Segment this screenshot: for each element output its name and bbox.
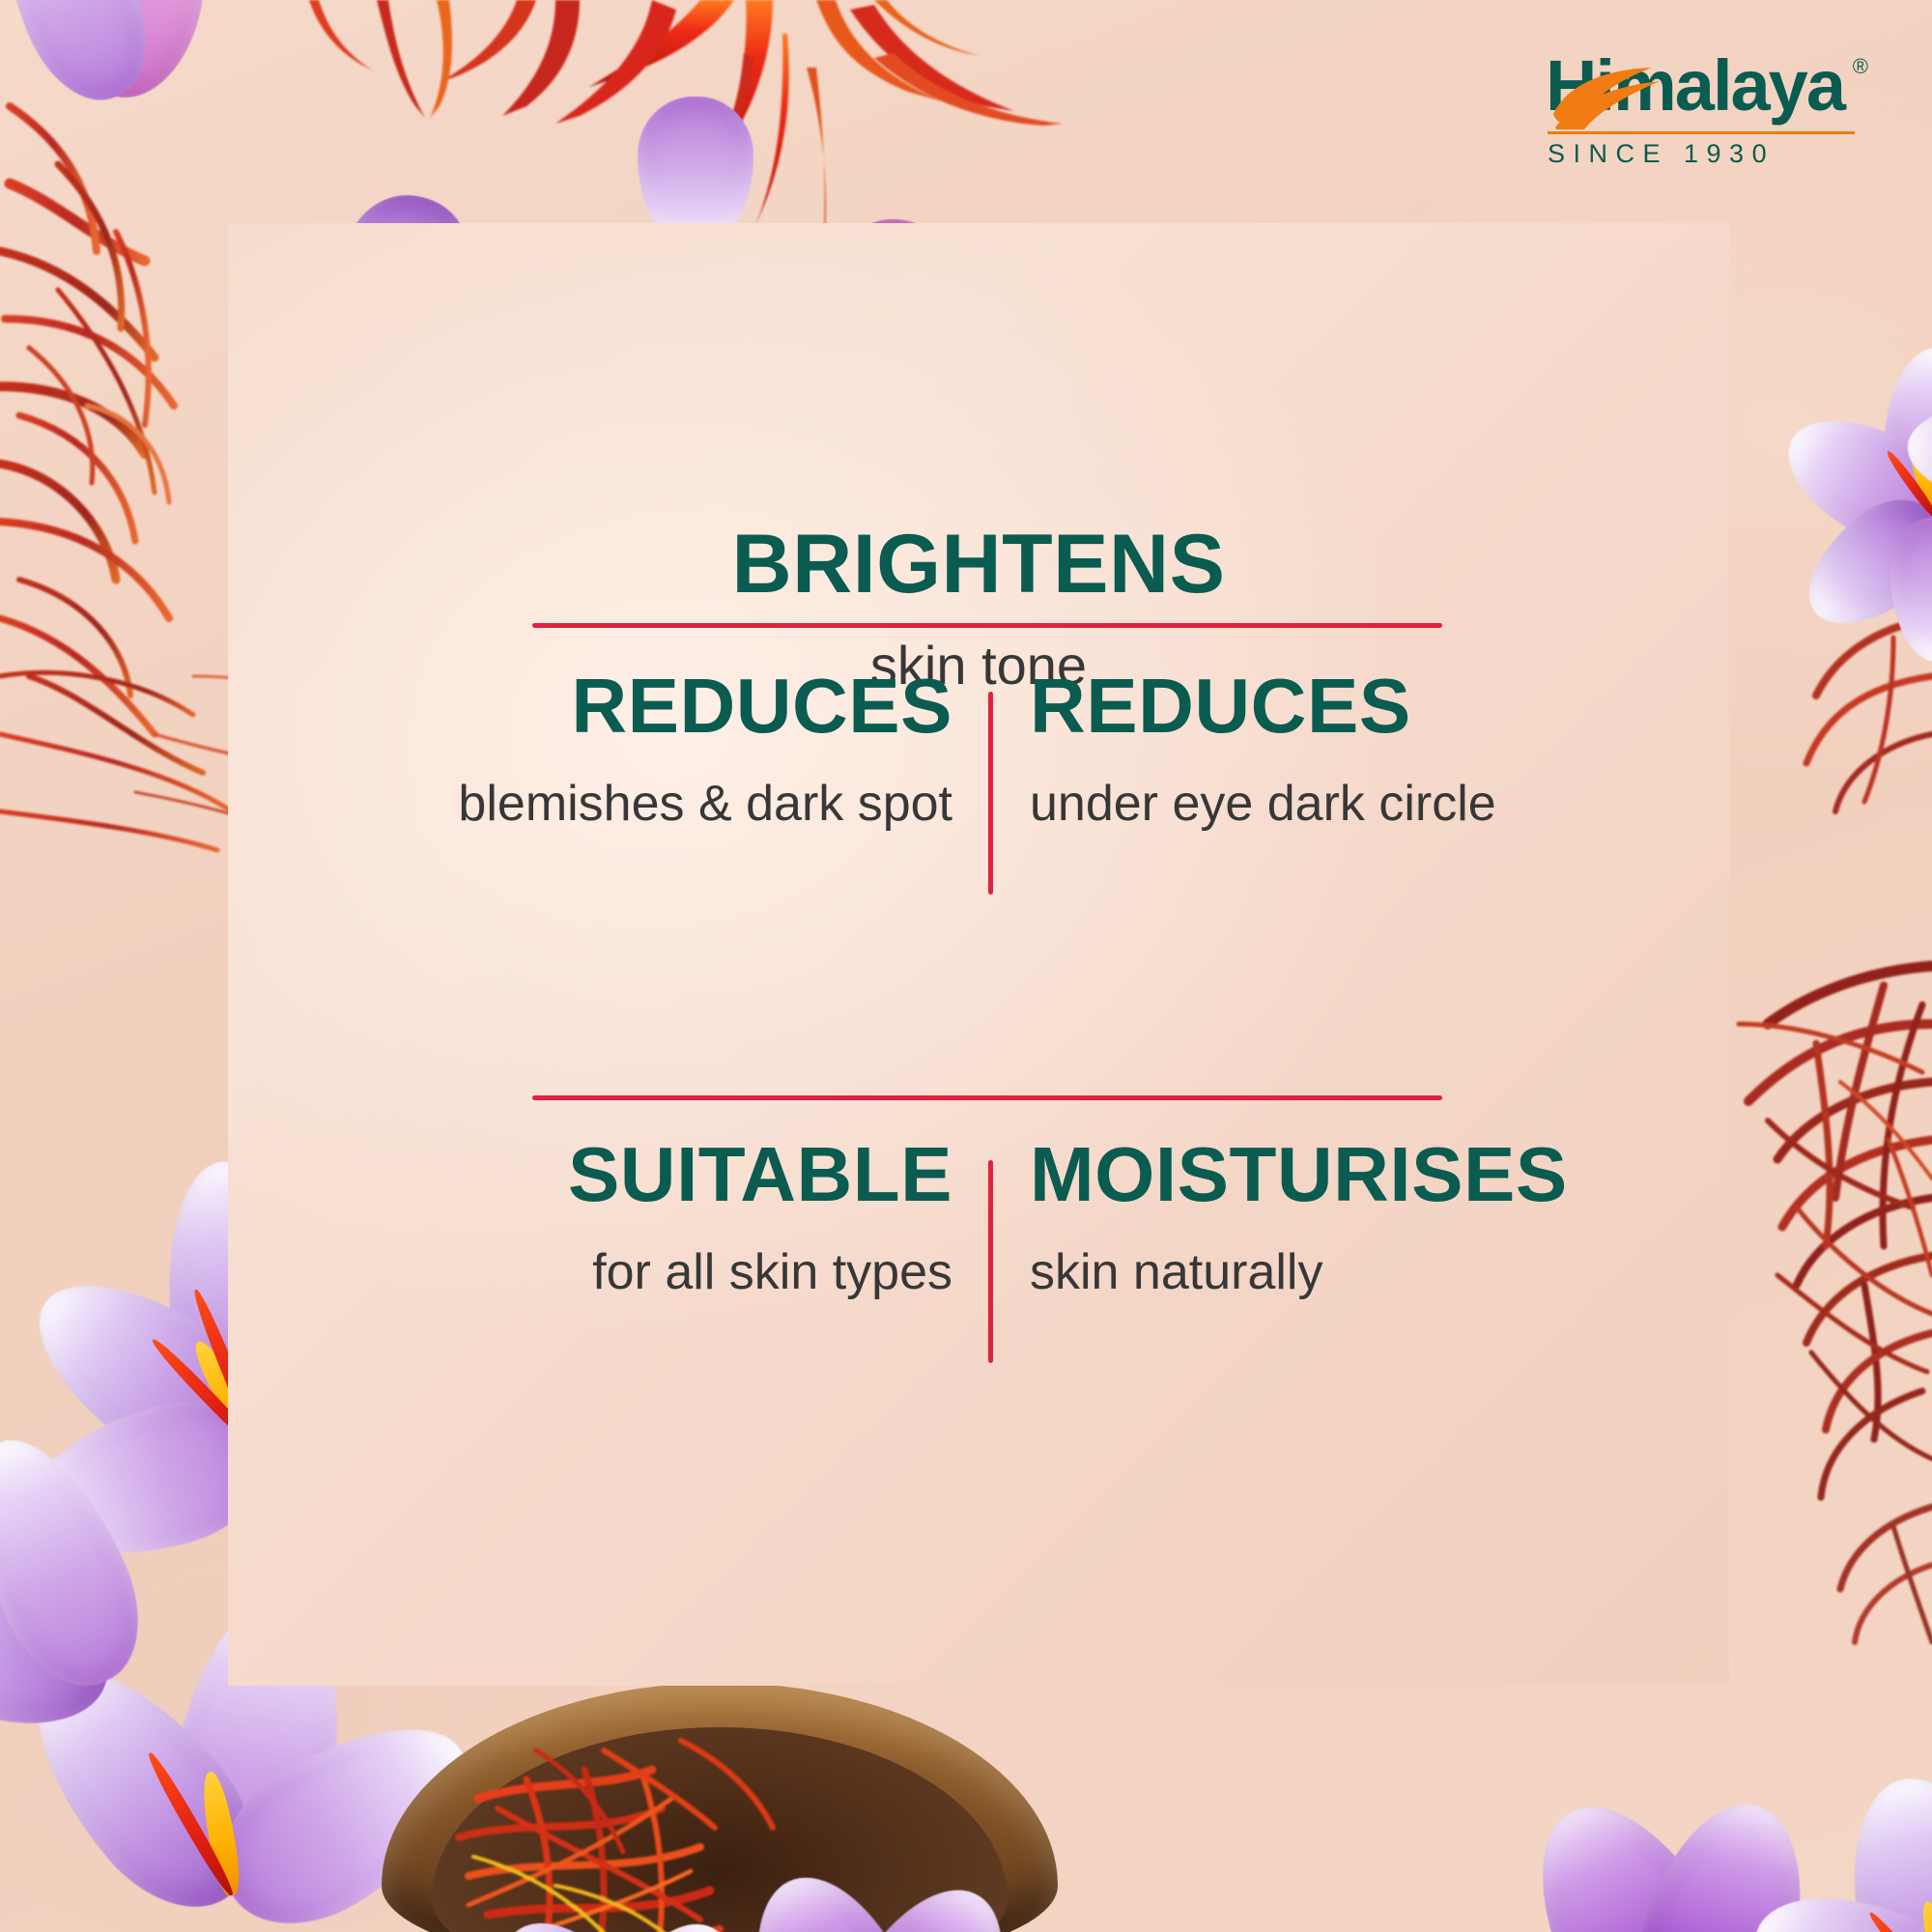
brand-tagline: SINCE 1930: [1548, 139, 1775, 169]
divider-horizontal-2: [532, 1095, 1442, 1100]
saffron-bowl-bottom-center: [382, 1683, 1058, 1932]
benefit-subtext-moisturises: skin naturally: [1030, 1244, 1716, 1302]
benefit-heading-moisturises: MOISTURISES: [1030, 1136, 1716, 1213]
benefit-heading-reduces-blemishes: REDUCES: [228, 668, 952, 745]
saffron-threads-top-left: [0, 106, 232, 850]
benefit-row-suitable: SUITABLE for all skin types MOISTURISES …: [228, 1136, 1729, 1542]
poster-canvas: BRIGHTENS skin tone REDUCES blemishes & …: [0, 0, 1932, 1932]
benefit-subtext-reduces-dark-circle: under eye dark circle: [1030, 776, 1716, 834]
divider-vertical-1: [988, 692, 993, 895]
saffron-threads-right-upper: [1806, 618, 1932, 811]
crocus-flower-bowl-1: [681, 1893, 1067, 1932]
registered-trademark-icon: ®: [1853, 54, 1868, 79]
benefit-cell-suitable: SUITABLE for all skin types: [228, 1136, 981, 1302]
divider-horizontal-1: [532, 623, 1442, 628]
crocus-petals-top-left: [0, 0, 241, 251]
benefit-heading-suitable: SUITABLE: [228, 1136, 952, 1213]
divider-vertical-2: [988, 1160, 993, 1363]
crocus-petal-top-center-a: [618, 19, 773, 174]
logo-underline: [1548, 131, 1855, 134]
crocus-flower-bottom-right-2: [1768, 1826, 1932, 1932]
benefits-card: BRIGHTENS skin tone REDUCES blemishes & …: [228, 223, 1729, 1686]
crocus-petal-top-right-3: [1835, 502, 1932, 696]
crocus-flower-top-right-1: [1782, 362, 1932, 671]
himalaya-logo: Himalaya ® SINCE 1930: [1546, 50, 1866, 164]
saffron-threads-right-lower: [1840, 1507, 1932, 1642]
benefit-cell-reduces-blemishes: REDUCES blemishes & dark spot: [228, 668, 981, 834]
benefit-cell-moisturises: MOISTURISES skin naturally: [1001, 1136, 1716, 1302]
benefits-content: BRIGHTENS skin tone REDUCES blemishes & …: [228, 223, 1729, 1686]
benefit-row-reduces: REDUCES blemishes & dark spot REDUCES un…: [228, 668, 1729, 1073]
saffron-threads-right: [1739, 966, 1932, 1497]
benefit-subtext-suitable: for all skin types: [228, 1244, 952, 1302]
benefit-subtext-reduces-blemishes: blemishes & dark spot: [228, 776, 952, 834]
himalaya-leaf-swoosh: [1551, 68, 1679, 129]
benefit-cell-reduces-dark-circle: REDUCES under eye dark circle: [1001, 668, 1716, 834]
crocus-flower-bottom-right-1: [1488, 1835, 1893, 1932]
benefit-heading-brightens: BRIGHTENS: [228, 523, 1729, 606]
crocus-flower-bottom-left-2: [29, 1700, 435, 1932]
benefit-heading-reduces-dark-circle: REDUCES: [1030, 668, 1716, 745]
